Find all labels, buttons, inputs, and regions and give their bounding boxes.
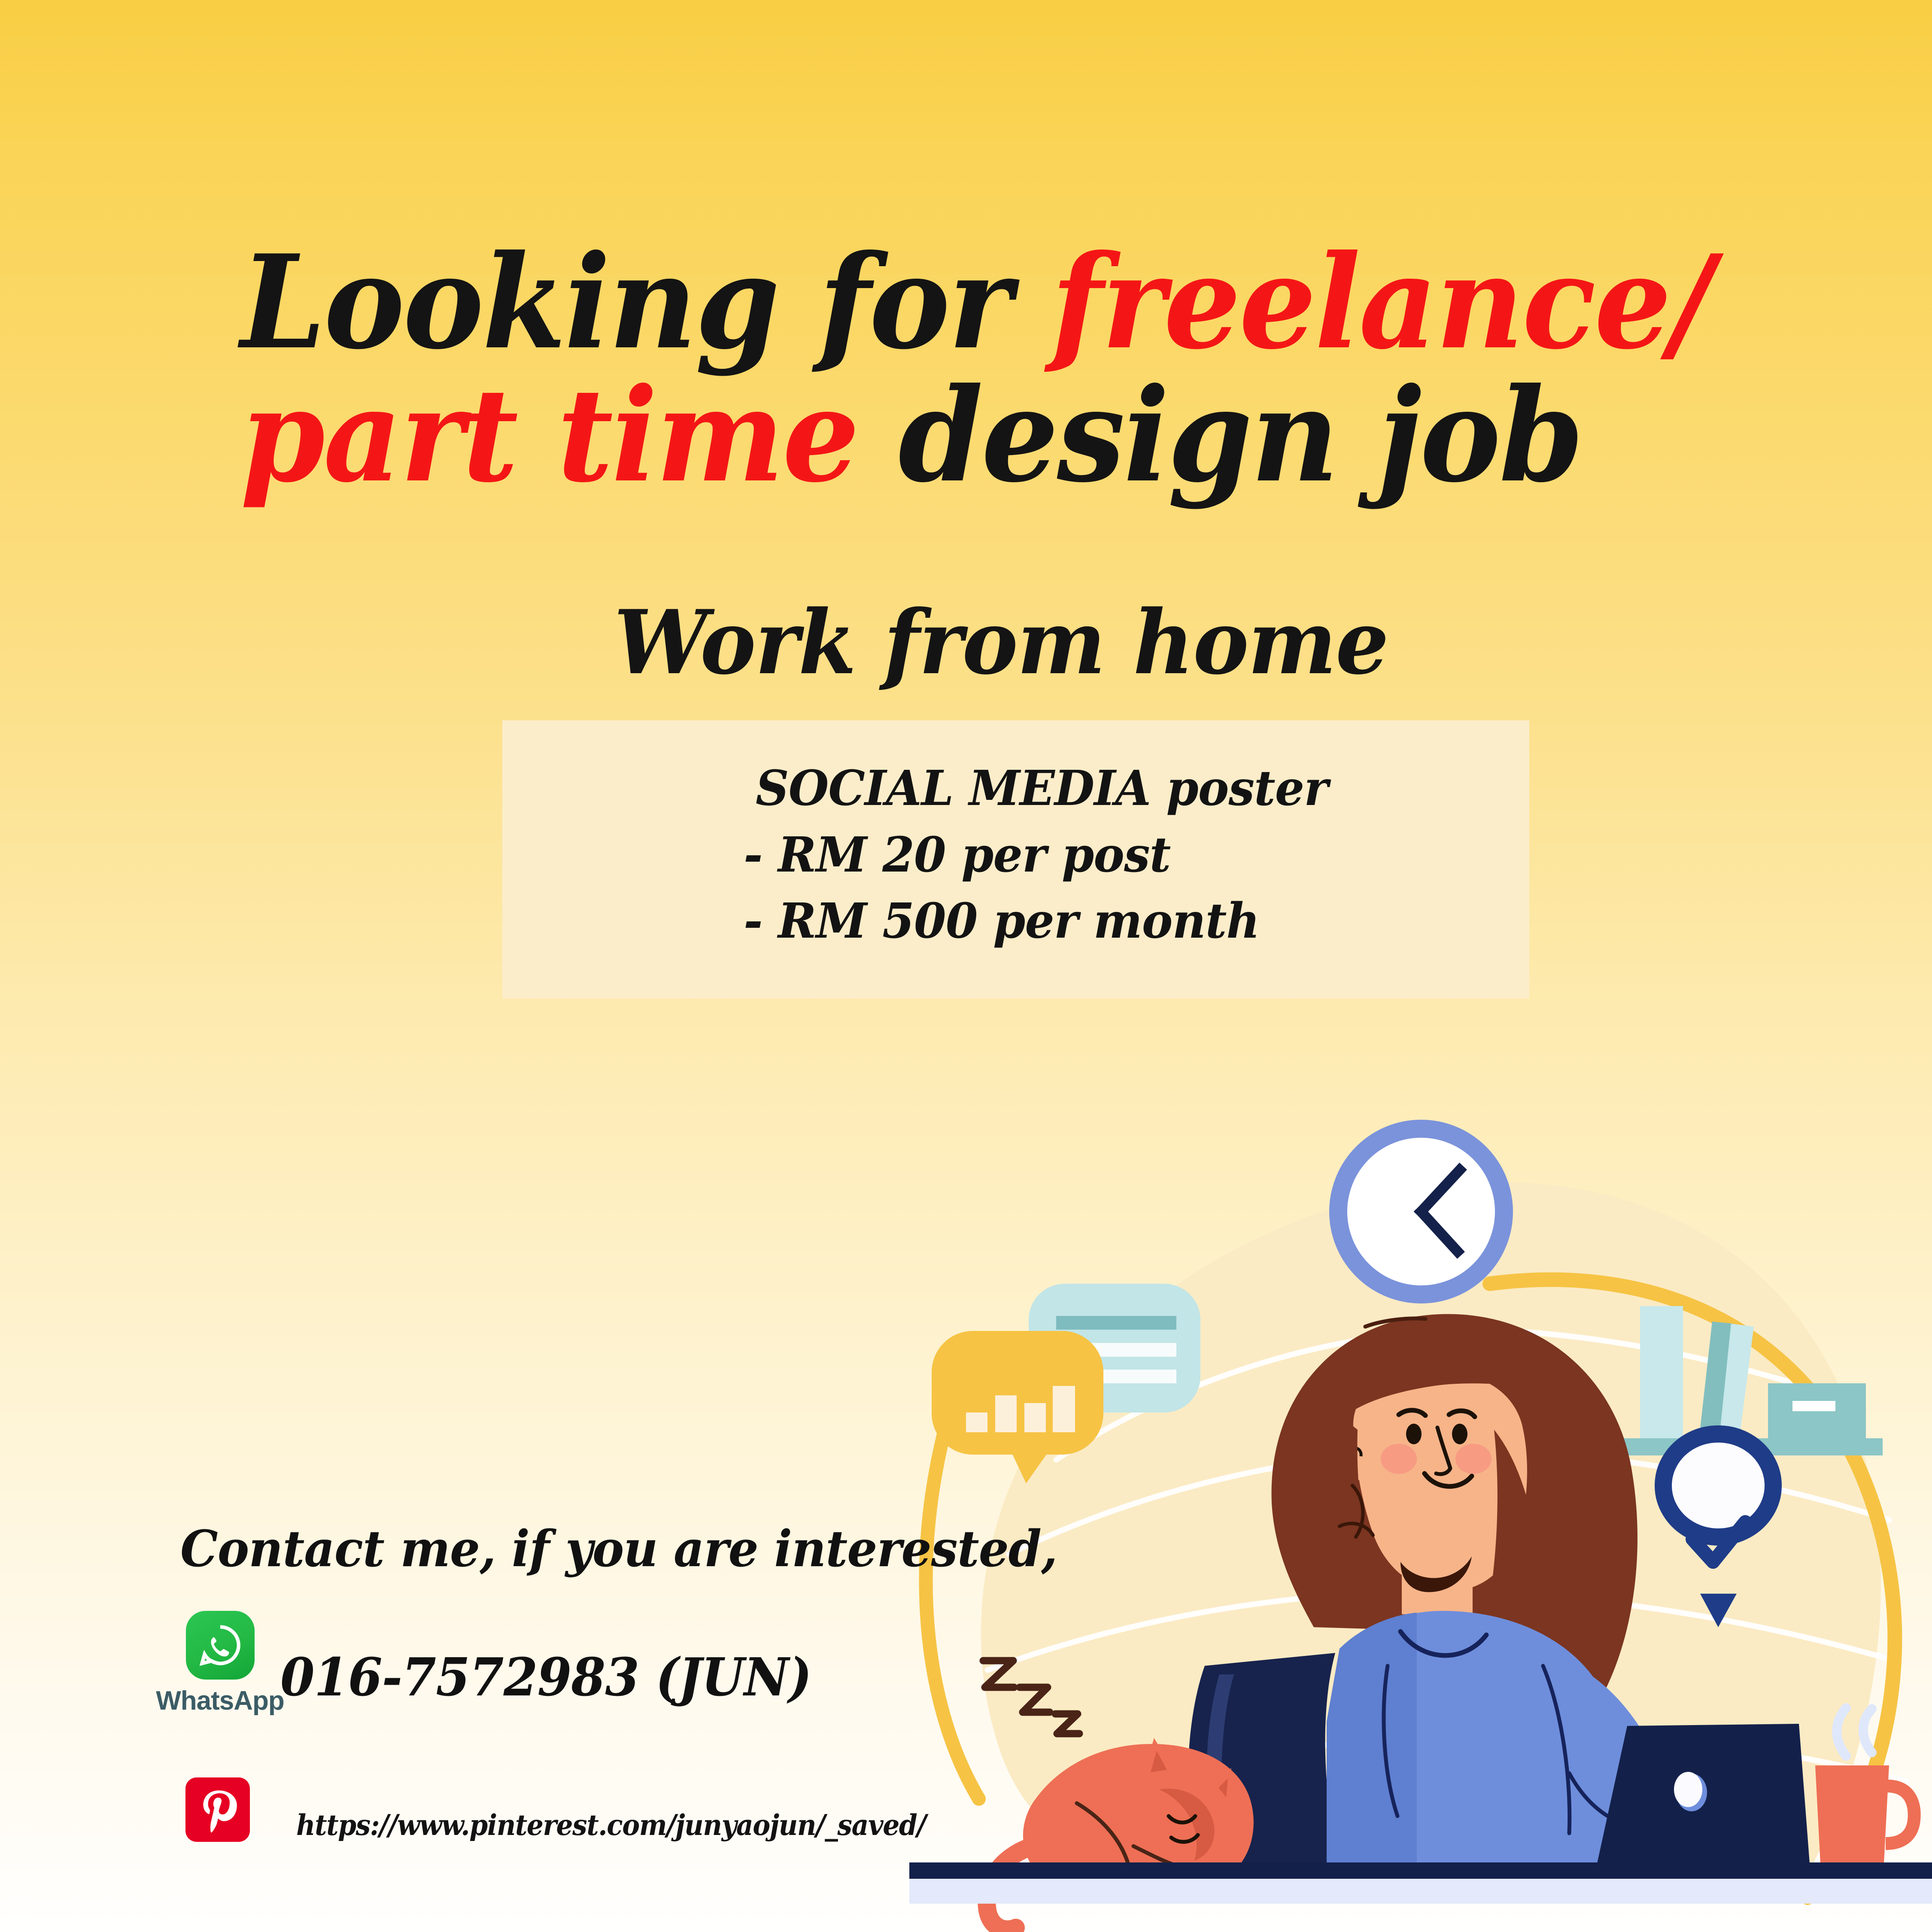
- headline-line1-red: freelance/: [1051, 226, 1712, 378]
- whatsapp-label: WhatsApp: [156, 1686, 284, 1716]
- woman-figure: [1272, 1314, 1720, 1867]
- subheadline: Work from home: [614, 599, 1388, 687]
- backdrop-blob: [981, 1182, 1881, 1889]
- headline-block: Looking for freelance/ part time design …: [240, 240, 1726, 497]
- coffee-mug: [1815, 1708, 1914, 1863]
- sleeping-cat: [987, 1738, 1254, 1929]
- pinterest-icon[interactable]: [185, 1777, 250, 1842]
- pinterest-url[interactable]: https://www.pinterest.com/junyaojun/_sav…: [296, 1808, 926, 1842]
- pricing-info-panel: SOCIAL MEDIA poster - RM 20 per post - R…: [502, 720, 1529, 999]
- check-badge-icon: [1663, 1434, 1773, 1627]
- headline-line2-red: part time: [240, 359, 899, 511]
- pricing-line-per-month: - RM 500 per month: [744, 888, 1327, 955]
- office-chair: [1188, 1653, 1340, 1865]
- headline-line-2: part time design job: [240, 374, 1637, 497]
- yellow-arc-outer: [1490, 1280, 1895, 1898]
- pinterest-contact-row[interactable]: https://www.pinterest.com/junyaojun/_sav…: [185, 1777, 973, 1842]
- chart-chat-bubble: [932, 1331, 1103, 1483]
- desk: [909, 1862, 1932, 1904]
- poster-canvas: Looking for freelance/ part time design …: [0, 0, 1932, 1932]
- document-chat-bubble: [1029, 1284, 1200, 1413]
- laptop: [1597, 1724, 1810, 1863]
- headline-line-1: Looking for freelance/: [240, 240, 1637, 364]
- bookshelf: [1616, 1306, 1883, 1455]
- clock-icon: [1338, 1129, 1504, 1294]
- contact-block: Contact me, if you are interested, Whats…: [180, 1520, 1103, 1578]
- pricing-info-list: SOCIAL MEDIA poster - RM 20 per post - R…: [756, 756, 1352, 955]
- zzz-sleep-marks: [983, 1661, 1079, 1734]
- whatsapp-contact-row[interactable]: WhatsApp 016-7572983 (JUN): [180, 1611, 845, 1716]
- whatsapp-logo-group[interactable]: WhatsApp: [180, 1611, 260, 1716]
- contact-heading: Contact me, if you are interested,: [180, 1520, 1057, 1578]
- pricing-line-title: SOCIAL MEDIA poster: [756, 756, 1328, 822]
- flow-lines: [987, 1330, 1906, 1790]
- headline-line2-black: design job: [899, 359, 1583, 511]
- whatsapp-phone-number[interactable]: 016-7572983 (JUN): [280, 1646, 811, 1708]
- headline-line1-black: Looking for: [240, 226, 1051, 378]
- pricing-line-per-post: - RM 20 per post: [744, 822, 1327, 889]
- whatsapp-icon[interactable]: [186, 1611, 255, 1680]
